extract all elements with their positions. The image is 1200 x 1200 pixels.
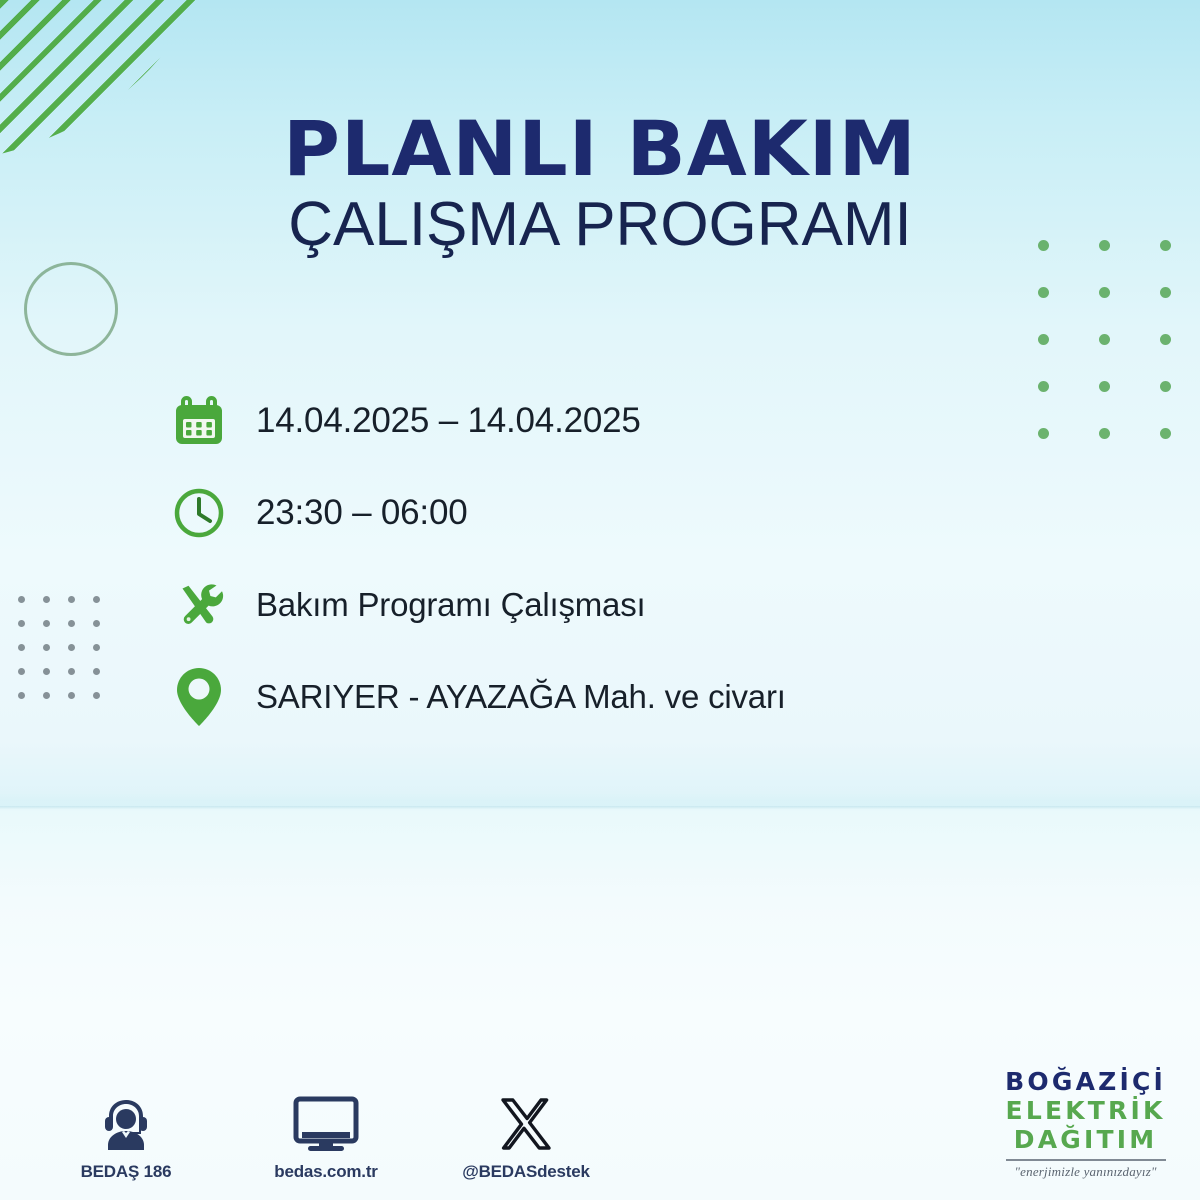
- decorative-dot: [68, 668, 75, 675]
- contact-channels: BEDAŞ 186 bedas.com.tr: [56, 1088, 596, 1182]
- decorative-dot: [68, 644, 75, 651]
- decorative-dot: [93, 692, 100, 699]
- brand-line-dagitim: DAĞITIM: [1005, 1127, 1166, 1152]
- x-social-icon: [456, 1088, 596, 1152]
- dot-grid-left-decoration: [18, 596, 104, 696]
- tools-icon: [168, 574, 230, 636]
- footer: BEDAŞ 186 bedas.com.tr: [0, 1010, 1200, 1200]
- decorative-dot: [68, 596, 75, 603]
- contact-phone[interactable]: BEDAŞ 186: [56, 1088, 196, 1182]
- decorative-dot: [43, 620, 50, 627]
- info-row-location-label: SARIYER - AYAZAĞA Mah. ve civarı: [256, 678, 786, 716]
- decorative-dot: [18, 668, 25, 675]
- decorative-dot: [1099, 334, 1110, 345]
- decorative-dot: [43, 596, 50, 603]
- info-row-location: SARIYER - AYAZAĞA Mah. ve civarı: [168, 654, 1068, 740]
- decorative-dot: [93, 668, 100, 675]
- map-pin-icon: [168, 666, 230, 728]
- decorative-dot: [93, 644, 100, 651]
- page-title: PLANLI BAKIM: [0, 112, 1200, 186]
- decorative-dot: [1160, 381, 1171, 392]
- decorative-dot: [43, 644, 50, 651]
- info-row-work: Bakım Programı Çalışması: [168, 562, 1068, 648]
- circle-outline-decoration: [24, 262, 118, 356]
- decorative-dot: [1160, 428, 1171, 439]
- decorative-dot: [18, 620, 25, 627]
- info-row-work-label: Bakım Programı Çalışması: [256, 586, 645, 624]
- decorative-dot: [18, 692, 25, 699]
- brand-line-elektrik: ELEKTRİK: [1005, 1098, 1166, 1123]
- poster-canvas: PLANLI BAKIM ÇALIŞMA PROGRAMI: [0, 0, 1200, 1200]
- clock-icon: [168, 482, 230, 544]
- brand-line-bogazici: BOĞAZİÇİ: [1005, 1069, 1166, 1094]
- decorative-dot: [68, 692, 75, 699]
- decorative-dot: [68, 620, 75, 627]
- brand-tagline: "enerjimizle yanınızdayız": [1005, 1165, 1166, 1178]
- contact-website-label: bedas.com.tr: [256, 1162, 396, 1182]
- brand-divider: [1006, 1159, 1166, 1161]
- decorative-dot: [1038, 287, 1049, 298]
- decorative-dot: [1099, 428, 1110, 439]
- decorative-dot: [1160, 334, 1171, 345]
- info-row-date: 14.04.2025 – 14.04.2025: [168, 378, 1068, 464]
- contact-social[interactable]: @BEDASdestek: [456, 1088, 596, 1182]
- decorative-dot: [93, 596, 100, 603]
- info-row-date-label: 14.04.2025 – 14.04.2025: [256, 401, 641, 441]
- decorative-dot: [1160, 287, 1171, 298]
- monitor-icon: [256, 1088, 396, 1152]
- company-logo: BOĞAZİÇİ ELEKTRİK DAĞITIM "enerjimizle y…: [1005, 1069, 1166, 1178]
- info-row-time-label: 23:30 – 06:00: [256, 493, 468, 533]
- calendar-icon: [168, 390, 230, 452]
- decorative-dot: [93, 620, 100, 627]
- contact-website[interactable]: bedas.com.tr: [256, 1088, 396, 1182]
- page-title-block: PLANLI BAKIM ÇALIŞMA PROGRAMI: [0, 112, 1200, 258]
- contact-social-label: @BEDASdestek: [456, 1162, 596, 1182]
- background-horizon-line: [0, 806, 1200, 809]
- decorative-dot: [1099, 287, 1110, 298]
- decorative-dot: [43, 668, 50, 675]
- maintenance-info-list: 14.04.2025 – 14.04.2025 23:30 – 06:00: [168, 378, 1068, 746]
- decorative-dot: [18, 596, 25, 603]
- decorative-dot: [43, 692, 50, 699]
- support-agent-icon: [56, 1088, 196, 1152]
- contact-phone-label: BEDAŞ 186: [56, 1162, 196, 1182]
- info-row-time: 23:30 – 06:00: [168, 470, 1068, 556]
- background-band-glow: [0, 792, 1200, 806]
- decorative-dot: [1099, 381, 1110, 392]
- page-subtitle: ÇALIŞMA PROGRAMI: [0, 192, 1200, 257]
- decorative-dot: [1038, 334, 1049, 345]
- decorative-dot: [18, 644, 25, 651]
